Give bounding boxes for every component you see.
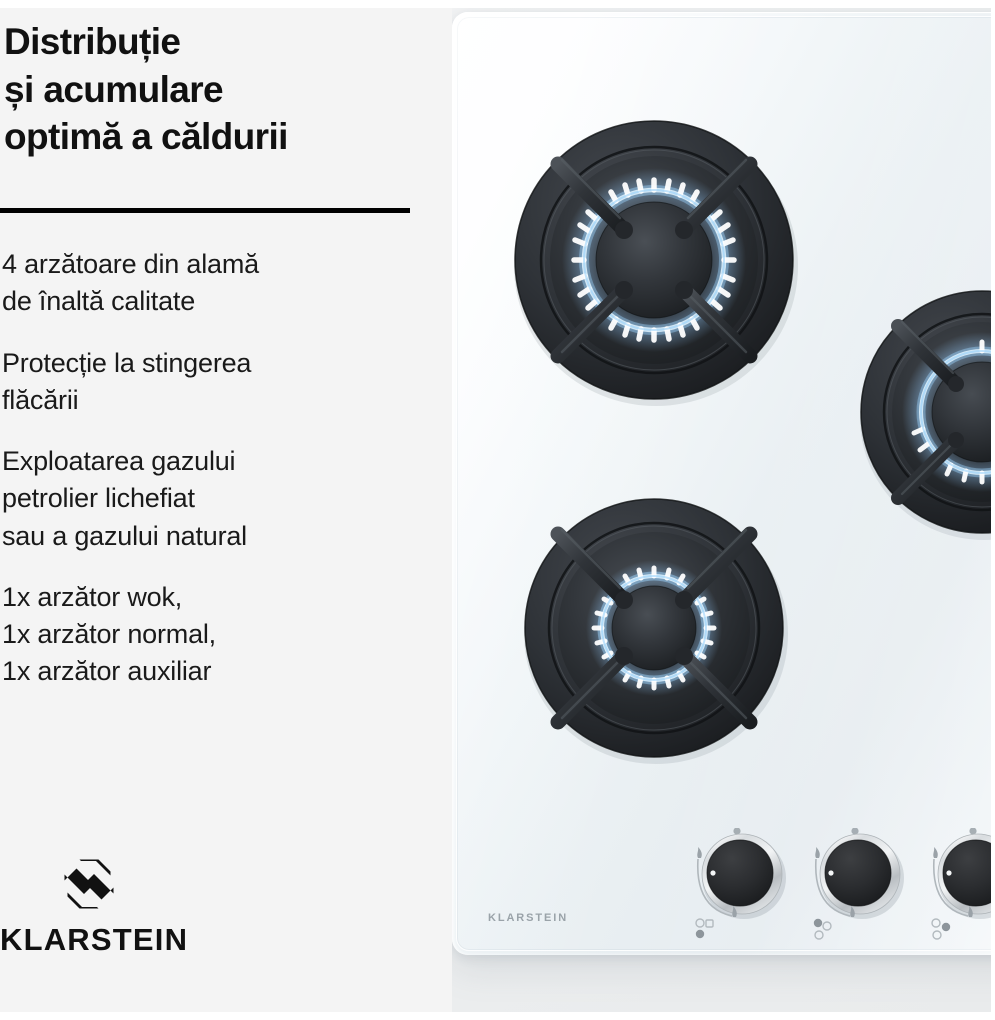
feature-list: 4 arzătoare din alamă de înaltă calitate… xyxy=(2,246,448,715)
product-scene: KLARSTEIN xyxy=(440,0,995,1020)
burner-wok-top-left xyxy=(484,88,824,428)
feature-4-line-2: 1x arzător normal, xyxy=(2,616,448,653)
feature-2-line-1: Protecție la stingerea xyxy=(2,345,448,382)
feature-4-line-3: 1x arzător auxiliar xyxy=(2,653,448,690)
frame-edge-top xyxy=(0,0,995,8)
feature-item-3: Exploatarea gazului petrolier lichefiat … xyxy=(2,443,448,555)
brand-wordmark: KLARSTEIN xyxy=(0,922,240,958)
feature-1-line-1: 4 arzătoare din alamă xyxy=(2,246,448,283)
frame-edge-bottom xyxy=(0,1012,995,1020)
product-marketing-banner: KLARSTEIN xyxy=(0,0,995,1020)
brand-logo: KLARSTEIN xyxy=(0,858,240,958)
feature-item-1: 4 arzătoare din alamă de înaltă calitate xyxy=(2,246,448,321)
klarstein-octagon-icon xyxy=(63,858,115,910)
burner-position-icon xyxy=(696,919,713,938)
feature-2-line-2: flăcării xyxy=(2,382,448,419)
feature-3-line-1: Exploatarea gazului xyxy=(2,443,448,480)
control-knob-3[interactable] xyxy=(928,828,995,953)
headline-line-3: optimă a căldurii xyxy=(4,113,444,161)
feature-3-line-3: sau a gazului natural xyxy=(2,518,448,555)
burner-auxiliary-bottom-left xyxy=(496,468,812,784)
headline-line-1: Distribuție xyxy=(4,18,444,66)
title-divider xyxy=(0,208,410,213)
feature-item-4: 1x arzător wok, 1x arzător normal, 1x ar… xyxy=(2,579,448,691)
feature-1-line-2: de înaltă calitate xyxy=(2,283,448,320)
frame-edge-right xyxy=(991,0,995,1020)
burner-normal-top-right xyxy=(858,262,995,562)
feature-3-line-2: petrolier lichefiat xyxy=(2,480,448,517)
marketing-text-panel: Distribuție și acumulare optimă a căldur… xyxy=(0,0,452,1020)
cooktop-brand-label: KLARSTEIN xyxy=(488,912,568,924)
feature-item-2: Protecție la stingerea flăcării xyxy=(2,345,448,420)
headline-line-2: și acumulare xyxy=(4,66,444,114)
burner-position-icon xyxy=(814,919,831,939)
page-title: Distribuție și acumulare optimă a căldur… xyxy=(4,18,444,161)
burner-position-icon xyxy=(932,919,950,939)
feature-4-line-1: 1x arzător wok, xyxy=(2,579,448,616)
